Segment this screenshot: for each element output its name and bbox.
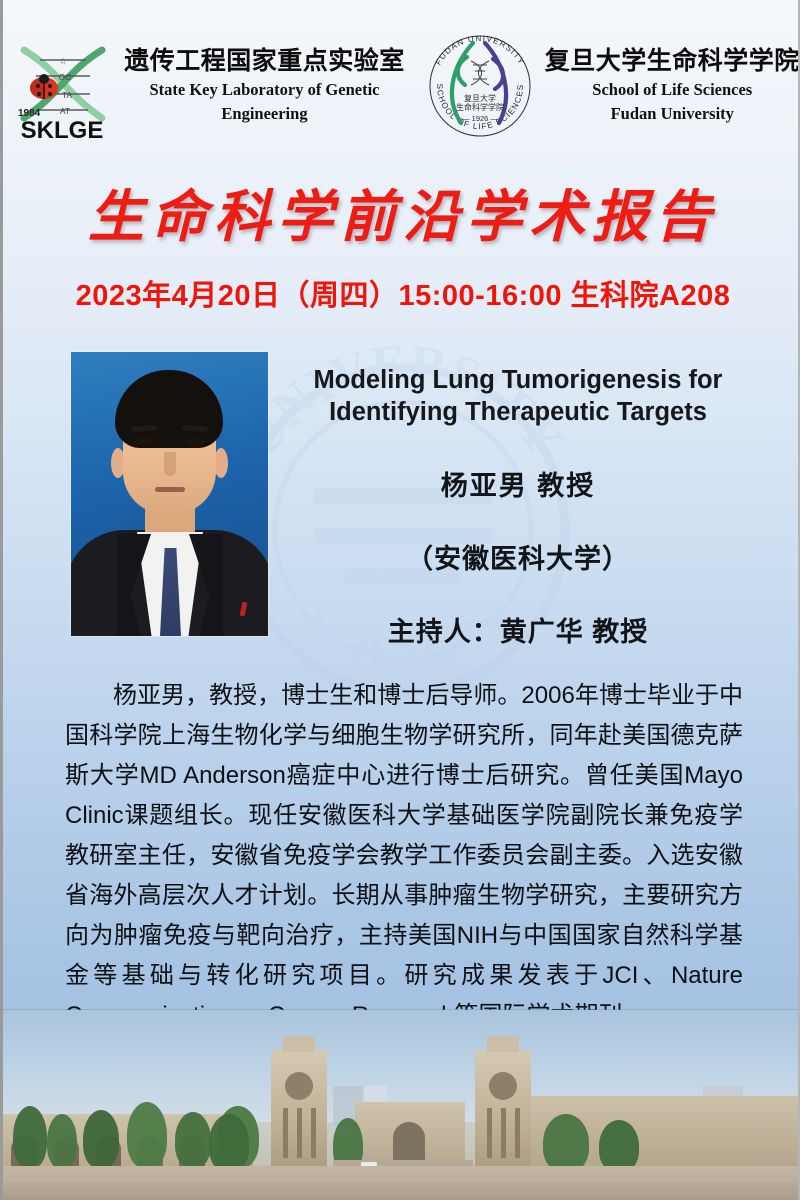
speaker-biography: 杨亚男，教授，博士生和博士后导师。2006年博士毕业于中国科学院上海生物化学与细… <box>65 676 743 1036</box>
fudan-year: — 1926 — <box>462 114 498 123</box>
talk-title-line2: Identifying Therapeutic Targets <box>278 396 758 428</box>
fudan-cn-1: 复旦大学 <box>464 93 496 103</box>
lab-cn-title: 遗传工程国家重点实验室 <box>124 47 405 77</box>
poster-main-title: 生命科学前沿学术报告 <box>3 172 800 253</box>
fudan-ring-top: FUDAN UNIVERSITY <box>434 34 526 67</box>
header-right-school: FUDAN UNIVERSITY SCHOOL OF LIFE SCIENCES <box>421 27 800 145</box>
school-en-title-1: School of Life Sciences <box>545 80 800 101</box>
fudan-cn-2: 生命科学学院 <box>456 102 504 112</box>
svg-text:☆: ☆ <box>59 56 67 66</box>
seminar-poster: UNIVERSITY SCIENCES <box>0 0 800 1200</box>
campus-photo <box>3 1010 800 1200</box>
sklge-base-ta: TA <box>62 90 73 100</box>
sklge-acronym: SKLGE <box>21 117 104 142</box>
talk-title-line1: Modeling Lung Tumorigenesis for <box>278 364 758 396</box>
fudan-sls-logo: FUDAN UNIVERSITY SCHOOL OF LIFE SCIENCES <box>421 27 539 145</box>
header-left-lab: ☆ GC TA AT 1984 SKLGE 遗 <box>6 30 405 142</box>
speaker-name: 杨亚男 教授 <box>278 464 758 503</box>
school-cn-title: 复旦大学生命科学学院 <box>545 47 800 77</box>
talk-info: Modeling Lung Tumorigenesis for Identify… <box>278 364 758 649</box>
sklge-logo: ☆ GC TA AT 1984 SKLGE <box>6 30 118 142</box>
event-datetime-venue: 2023年4月20日（周四）15:00-16:00 生科院A208 <box>3 272 800 314</box>
lab-en-title-1: State Key Laboratory of Genetic <box>124 80 405 101</box>
speaker-portrait <box>71 352 268 636</box>
speaker-affiliation: （安徽医科大学） <box>278 537 758 576</box>
lab-en-title-2: Engineering <box>124 104 405 125</box>
sklge-base-gc: GC <box>59 72 72 82</box>
svg-text:FUDAN UNIVERSITY: FUDAN UNIVERSITY <box>434 34 526 67</box>
school-en-title-2: Fudan University <box>545 104 800 125</box>
poster-header: ☆ GC TA AT 1984 SKLGE 遗 <box>3 22 800 150</box>
sklge-base-at: AT <box>60 106 70 116</box>
host-name: 主持人：黄广华 教授 <box>278 610 758 649</box>
